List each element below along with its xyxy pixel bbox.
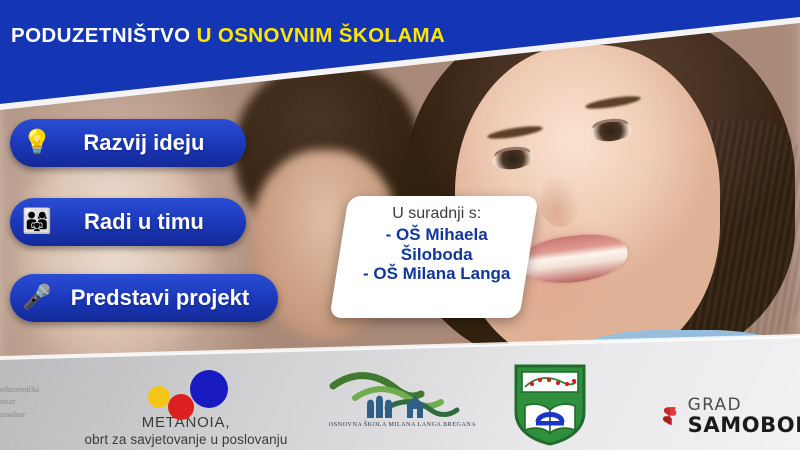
logo-poduzetnicki-centar-samobor: Poduzetnički centar Samobor (0, 383, 56, 420)
badge-label: Radi u timu (58, 209, 230, 235)
people-team-icon: 👨‍👩‍👧 (22, 210, 52, 234)
badge-label: Razvij ideju (58, 130, 230, 156)
logo-grad-samobor: GRAD SAMOBOR (662, 390, 800, 442)
microphone-icon: 🎤 (22, 286, 52, 310)
langa-caption: OSNOVNA ŠKOLA MILANA LANGA BREGANA (325, 421, 480, 428)
promo-banner: PODUZETNIŠTVO U OSNOVNIM ŠKOLAMA 💡 Razvi… (0, 0, 800, 450)
badge-razvij-ideju: 💡 Razvij ideju (10, 119, 246, 167)
badge-radi-u-timu: 👨‍👩‍👧 Radi u timu (10, 198, 246, 246)
grad-samobor-s-icon (662, 390, 679, 442)
red-circle-icon (168, 394, 194, 420)
badge-label: Predstavi projekt (58, 285, 262, 311)
callout-school-1-cont: Šiloboda (342, 245, 532, 265)
logo-pcs-line1: Poduzetnički (0, 383, 56, 395)
logo-pcs-line2: centar (0, 395, 56, 407)
callout-lead: U suradnji s: (342, 205, 532, 223)
page-title: PODUZETNIŠTVO U OSNOVNIM ŠKOLAMA (11, 24, 445, 48)
badge-predstavi-projekt: 🎤 Predstavi projekt (10, 274, 278, 322)
callout-school-2: - OŠ Milana Langa (342, 264, 532, 284)
logo-metanoia: METANOIA, obrt za savjetovanje u poslova… (72, 368, 300, 447)
metanoia-tagline: obrt za savjetovanje u poslovanju (72, 432, 300, 447)
logo-pcs-line3: Samobor (0, 408, 56, 420)
school-crest-icon (512, 362, 588, 446)
grad-samobor-line2: SAMOBOR (688, 415, 800, 436)
callout-school-1: - OŠ Mihaela (342, 225, 532, 245)
title-primary: PODUZETNIŠTVO (11, 24, 190, 47)
title-highlight: U OSNOVNIM ŠKOLAMA (197, 24, 446, 47)
metanoia-dots-mark (72, 368, 300, 414)
lightbulb-icon: 💡 (22, 131, 52, 155)
logo-os-milana-langa: OSNOVNA ŠKOLA MILANA LANGA BREGANA (325, 368, 480, 428)
grad-samobor-line1: GRAD (688, 397, 800, 414)
langa-mark-icon (325, 368, 480, 420)
collaboration-callout: U suradnji s: - OŠ Mihaela Šiloboda - OŠ… (329, 196, 538, 318)
blue-circle-icon (190, 370, 228, 408)
yellow-circle-icon (148, 386, 170, 408)
logo-os-mihaela-siloboda (512, 362, 588, 450)
